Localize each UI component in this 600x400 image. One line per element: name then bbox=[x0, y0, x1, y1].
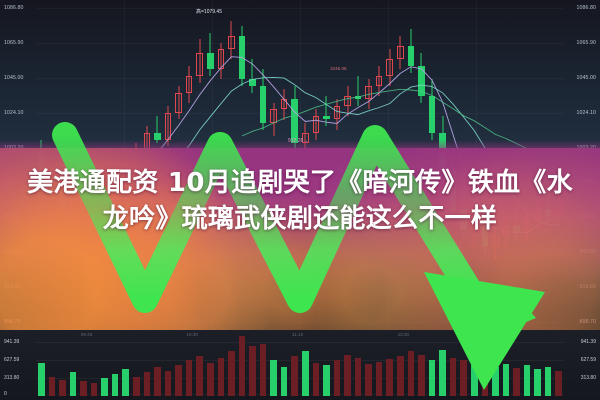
headline-text: 美港通配资 10月追剧哭了《暗河传》铁血《水龙吟》琉璃武侠剧还能这么不一样 bbox=[24, 165, 576, 237]
stock-chart-banner: 1086.801065.901045.001024.101003.20982.3… bbox=[0, 0, 600, 400]
